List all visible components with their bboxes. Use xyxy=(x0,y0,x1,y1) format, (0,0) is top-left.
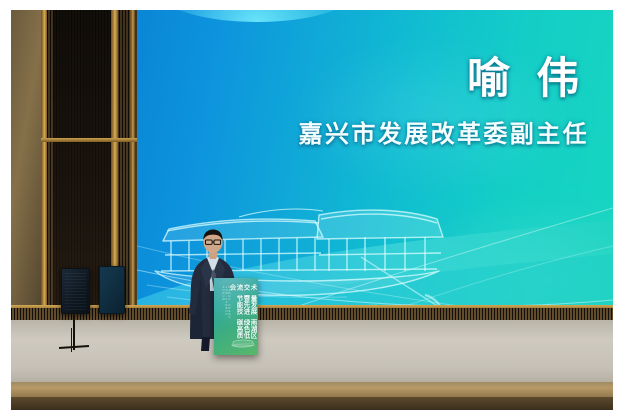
podium-line-3: 术交流会 xyxy=(234,284,256,294)
podium-line-2: 量发展暨先进节能技 xyxy=(234,295,256,318)
screen-top-arc-glow xyxy=(157,10,357,22)
speaker-name: 喻 伟 xyxy=(467,44,587,106)
speaker-stand xyxy=(73,310,75,350)
wall-speaker-left xyxy=(61,268,90,314)
podium-subtitle: NANHU GREEN LOW-CARBON FORUM xyxy=(222,286,231,330)
speaker-role: 嘉兴市发展改革委副主任 xyxy=(299,114,589,149)
podium: 南湖区绿色低碳高质 量发展暨先进节能技 术交流会 NANHU GREEN LOW… xyxy=(214,278,258,355)
podium-boat-icon xyxy=(230,337,256,350)
stage-front-edge xyxy=(11,382,613,398)
wall-speaker-right xyxy=(99,266,125,314)
cable xyxy=(71,328,72,352)
stage-photo: 喻 伟 嘉兴市发展改革委副主任 xyxy=(11,10,613,410)
gold-rail-upper xyxy=(41,138,143,142)
stage-floor xyxy=(11,320,613,384)
podium-title-block: 南湖区绿色低碳高质 量发展暨先进节能技 术交流会 xyxy=(234,284,256,342)
speaker-grille-icon xyxy=(65,272,86,310)
photo-frame: 喻 伟 嘉兴市发展改革委副主任 xyxy=(0,0,625,420)
hall-floor xyxy=(11,397,613,410)
